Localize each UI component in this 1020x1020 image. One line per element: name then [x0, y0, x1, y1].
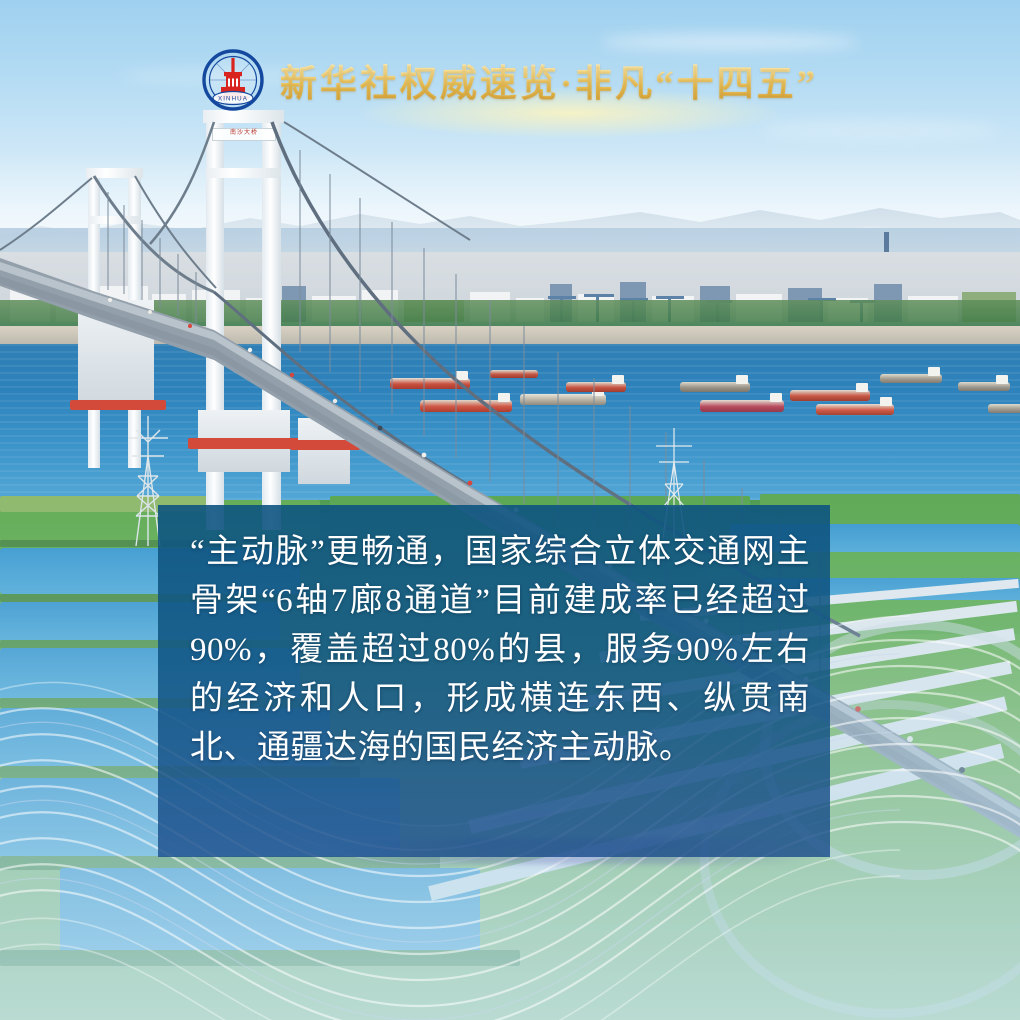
page-title: 新华社权威速览·非凡“十四五” [280, 53, 818, 107]
caption-text: “主动脉”更畅通，国家综合立体交通网主骨架“6轴7廊8通道”目前建成率已经超过9… [190, 528, 810, 773]
poster-canvas: 南沙大桥 [0, 0, 1020, 1020]
logo-wordmark: XINHUA [218, 96, 248, 103]
header-bar: XINHUA 新华社权威速览·非凡“十四五” [0, 42, 1020, 118]
xinhua-logo: XINHUA [202, 49, 264, 111]
